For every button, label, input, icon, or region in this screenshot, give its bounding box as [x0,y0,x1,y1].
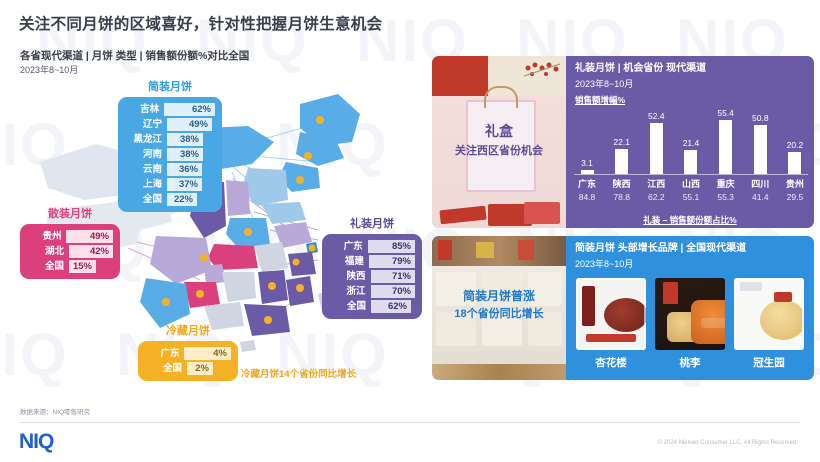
bar-value: 22.1 [613,137,630,147]
row-bar: 15% [69,260,96,273]
chart-bar: 21.4 [678,104,704,174]
bar-value: 50.8 [752,113,769,123]
brands-content: 简装月饼 头部增长品牌 | 全国现代渠道 2023年8~10月 杏花楼 [566,236,814,380]
gift-box-photo: 礼盒 关注西区省份机会 [432,56,566,228]
row-value: 49% [189,118,212,131]
bar-value: 3.1 [581,158,593,168]
table-row: 福建 79% [329,255,415,268]
chart-bar: 22.1 [609,104,635,174]
table-row: 陕西 71% [329,270,415,283]
row-value: 85% [392,240,415,253]
chart-footer-label: 礼装 – 销售额份额占比% [566,214,814,226]
chart-axis-line [574,174,808,175]
row-value: 62% [192,103,215,116]
group-table: 广东 4% 全国 2% [138,341,238,381]
group-label: 简装月饼 [118,78,222,94]
row-bar: 38% [167,148,203,161]
group-table: 贵州 49% 湖北 42% 全国 15% [20,224,120,279]
row-value: 22% [174,193,197,206]
category-name: 山西 [678,177,704,190]
row-bar: 42% [69,245,113,258]
row-name: 福建 [329,255,369,268]
growth-bar-chart: 3.1 22.1 52.4 21.4 [574,104,808,174]
chart-bar: 50.8 [747,104,773,174]
row-value: 62% [388,300,411,313]
category-share: 84.8 [574,192,600,202]
row-bar: 49% [66,230,113,243]
table-row: 云南 36% [125,163,215,176]
bar-rect [788,152,801,174]
brand-card: 杏花楼 [576,278,646,370]
row-name: 陕西 [329,270,371,283]
brand-name: 杏花楼 [576,355,646,370]
row-value: 15% [73,260,96,273]
row-name: 云南 [125,163,167,176]
row-bar: 79% [369,255,415,268]
bar-value: 55.4 [717,108,734,118]
group-label: 冷藏月饼 [138,322,238,338]
category-share: 55.3 [713,192,739,202]
berry-decoration-icon [522,62,562,88]
bar-rect [754,125,767,174]
table-row: 全国 15% [27,260,113,273]
chart-category: 贵州 29.5 [782,177,808,202]
category-name: 陕西 [609,177,635,190]
chart-category: 山西 55.1 [678,177,704,202]
category-share: 41.4 [747,192,773,202]
row-bar: 62% [164,103,215,116]
footer-divider [20,422,800,423]
row-bar: 85% [368,240,415,253]
panel-title: 简装月饼 头部增长品牌 | 全国现代渠道 [575,243,808,256]
niq-logo: NIQ [19,430,53,454]
row-bar: 38% [167,133,203,146]
category-name: 四川 [747,177,773,190]
table-row: 全国 22% [125,193,215,206]
brand-card: 桃李 [655,278,725,370]
row-value: 2% [195,362,213,375]
chart-category: 广东 84.8 [574,177,600,202]
page-title: 关注不同月饼的区域喜好，针对性把握月饼生意机会 [19,12,382,34]
table-row: 浙江 70% [329,285,415,298]
chart-category: 四川 41.4 [747,177,773,202]
row-name: 全国 [329,300,371,313]
bar-rect [615,149,628,174]
bar-rect [719,120,732,174]
row-name: 全国 [145,362,187,375]
row-bar: 49% [167,118,212,131]
row-name: 辽宁 [125,118,167,131]
table-row: 辽宁 49% [125,118,215,131]
table-row: 吉林 62% [125,103,215,116]
bar-rect [684,150,697,174]
brand-product-image [576,278,646,350]
row-name: 浙江 [329,285,371,298]
chart-bar: 20.2 [782,104,808,174]
row-name: 河南 [125,148,167,161]
note-text: 冷藏月饼14个省份同比增长 [241,366,356,380]
slide-root: NIQ NIQ NIQ NIQ NIQ NIQ NIQ NIQ NIQ NIQ … [0,0,820,462]
brand-card: 冠生园 [734,278,804,370]
group-label: 散装月饼 [20,205,120,221]
brand-product-image [734,278,804,350]
chart-bar: 52.4 [643,104,669,174]
row-name: 黑龙江 [125,133,167,146]
row-value: 38% [180,133,203,146]
panel-simple-mooncake-brands: 简装月饼普涨 18个省份同比增长 简装月饼 头部增长品牌 | 全国现代渠道 20… [432,236,814,380]
category-share: 78.8 [609,192,635,202]
chart-bars: 3.1 22.1 52.4 21.4 [574,104,808,174]
row-bar: 22% [167,193,197,206]
row-bar: 70% [371,285,415,298]
row-bar: 4% [184,347,231,360]
group-label: 礼装月饼 [322,215,422,231]
row-value: 79% [392,255,415,268]
row-name: 上海 [125,178,167,191]
table-row: 全国 62% [329,300,415,313]
table-row: 黑龙江 38% [125,133,215,146]
gift-chart-content: 礼装月饼 | 机会省份 现代渠道 2023年8~10月 销售额增幅% 3.1 2… [566,56,814,228]
group-bulk-mooncake: 散装月饼 贵州 49% 湖北 42% 全国 15% [20,205,120,279]
chart-category: 陕西 78.8 [609,177,635,202]
chilled-growth-note: 冷藏月饼14个省份同比增长 [231,366,356,380]
chart-bar: 55.4 [713,104,739,174]
panel-date: 2023年8~10月 [575,257,808,270]
chart-category: 江西 62.2 [643,177,669,202]
row-value: 70% [392,285,415,298]
chart-category-labels: 广东 84.8 陕西 78.8 江西 62.2 山西 55.1 重庆 55. [574,177,808,202]
store-shelf-photo: 简装月饼普涨 18个省份同比增长 [432,236,566,380]
row-bar: 62% [371,300,411,313]
category-share: 55.1 [678,192,704,202]
data-source-note: 数据来源：NIQ零售研究 [20,406,90,416]
row-name: 全国 [125,193,167,206]
bar-rect [650,123,663,174]
category-name: 江西 [643,177,669,190]
row-value: 42% [90,245,113,258]
table-row: 贵州 49% [27,230,113,243]
table-row: 河南 38% [125,148,215,161]
photo-caption-primary: 礼盒 [432,122,566,141]
page-subtitle: 各省现代渠道 | 月饼 类型 | 销售额份额%对比全国 [20,48,249,63]
category-name: 重庆 [713,177,739,190]
row-name: 贵州 [27,230,66,243]
row-name: 广东 [145,347,184,360]
bullet-dot-icon [231,370,237,376]
row-value: 4% [213,347,231,360]
photo-caption-secondary: 18个省份同比增长 [432,307,566,322]
photo-caption-secondary: 关注西区省份机会 [432,144,566,159]
row-value: 71% [392,270,415,283]
row-value: 36% [179,163,202,176]
chart-bar: 3.1 [574,104,600,174]
panel-date: 2023年8~10月 [575,77,808,90]
brand-product-image [655,278,725,350]
bar-value: 21.4 [683,138,700,148]
category-share: 62.2 [643,192,669,202]
brand-name: 冠生园 [734,355,804,370]
table-row: 湖北 42% [27,245,113,258]
row-value: 38% [180,148,203,161]
bar-value: 52.4 [648,111,665,121]
row-value: 37% [179,178,202,191]
group-table: 广东 85% 福建 79% 陕西 71% 浙江 70% 全国 62% [322,234,422,319]
photo-caption-primary: 简装月饼普涨 [432,288,566,304]
table-row: 全国 2% [145,362,231,375]
panel-gift-mooncake: 礼盒 关注西区省份机会 礼装月饼 | 机会省份 现代渠道 2023年8~10月 … [432,56,814,228]
table-row: 广东 4% [145,347,231,360]
row-name: 广东 [329,240,368,253]
brand-name: 桃李 [655,355,725,370]
row-bar: 36% [167,163,202,176]
brand-card-list: 杏花楼 桃李 [576,278,804,370]
category-share: 29.5 [782,192,808,202]
group-gift-mooncake: 礼装月饼 广东 85% 福建 79% 陕西 71% 浙江 70% 全国 62% [322,215,422,319]
row-value: 49% [90,230,113,243]
group-table: 吉林 62% 辽宁 49% 黑龙江 38% 河南 38% 云南 36% 上海 3… [118,97,222,212]
row-bar: 2% [187,362,213,375]
category-name: 贵州 [782,177,808,190]
table-row: 上海 37% [125,178,215,191]
row-bar: 37% [167,178,202,191]
group-chilled-mooncake: 冷藏月饼 广东 4% 全国 2% [138,322,238,381]
copyright-text: © 2024 Nielsen Consumer LLC. All Rights … [658,440,799,446]
bar-value: 20.2 [787,140,804,150]
row-bar: 71% [371,270,415,283]
row-name: 全国 [27,260,69,273]
panel-title: 礼装月饼 | 机会省份 现代渠道 [575,63,808,76]
group-simple-mooncake: 简装月饼 吉林 62% 辽宁 49% 黑龙江 38% 河南 38% 云南 36% [118,78,222,212]
table-row: 广东 85% [329,240,415,253]
category-name: 广东 [574,177,600,190]
chart-category: 重庆 55.3 [713,177,739,202]
row-name: 吉林 [125,103,164,116]
row-name: 湖北 [27,245,69,258]
